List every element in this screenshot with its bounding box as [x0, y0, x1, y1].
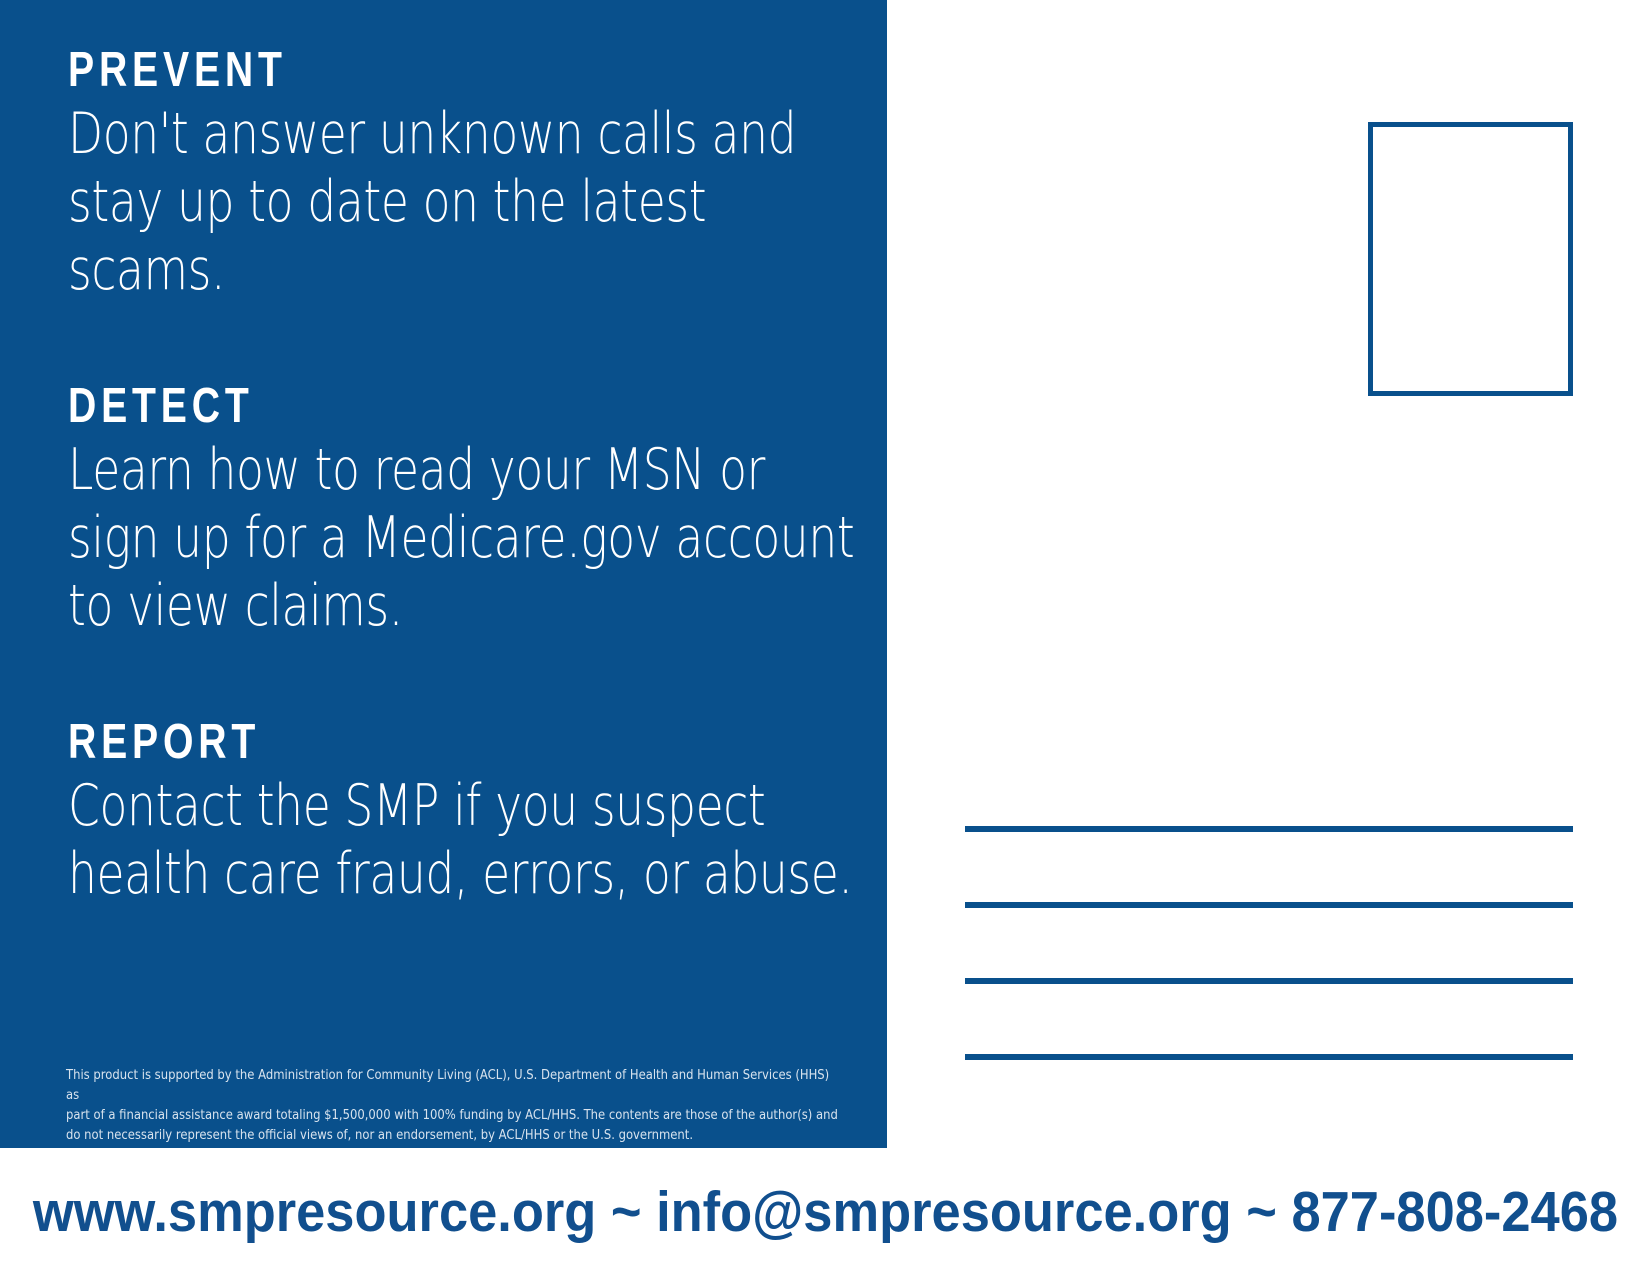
section-report: REPORT Contact the SMP if you suspect he…: [68, 718, 858, 909]
section-detect: DETECT Learn how to read your MSN or sig…: [68, 382, 858, 640]
address-line-3[interactable]: [965, 978, 1573, 984]
section-prevent-heading: PREVENT: [68, 46, 700, 95]
section-detect-heading: DETECT: [68, 382, 700, 431]
postcard: PREVENT Don't answer unknown calls and s…: [0, 0, 1650, 1275]
disclaimer-line-2: part of a financial assistance award tot…: [66, 1106, 840, 1126]
address-line-1[interactable]: [965, 826, 1573, 832]
section-detect-body: Learn how to read your MSN or sign up fo…: [68, 437, 860, 640]
message-panel: PREVENT Don't answer unknown calls and s…: [0, 0, 887, 1148]
address-line-4[interactable]: [965, 1054, 1573, 1060]
contact-info-text: www.smpresource.org ~ info@smpresource.o…: [32, 1179, 1617, 1245]
section-report-heading: REPORT: [68, 718, 700, 767]
disclaimer-line-3: do not necessarily represent the officia…: [66, 1126, 840, 1146]
section-report-body: Contact the SMP if you suspect health ca…: [68, 773, 860, 909]
stamp-placement-box: [1368, 122, 1573, 396]
address-lines-group: [965, 826, 1573, 1060]
disclaimer-line-1: This product is supported by the Adminis…: [66, 1066, 840, 1106]
section-prevent: PREVENT Don't answer unknown calls and s…: [68, 46, 858, 304]
section-prevent-body: Don't answer unknown calls and stay up t…: [68, 101, 860, 304]
address-line-2[interactable]: [965, 902, 1573, 908]
contact-bar: www.smpresource.org ~ info@smpresource.o…: [0, 1148, 1650, 1275]
funding-disclaimer: This product is supported by the Adminis…: [66, 1066, 840, 1146]
